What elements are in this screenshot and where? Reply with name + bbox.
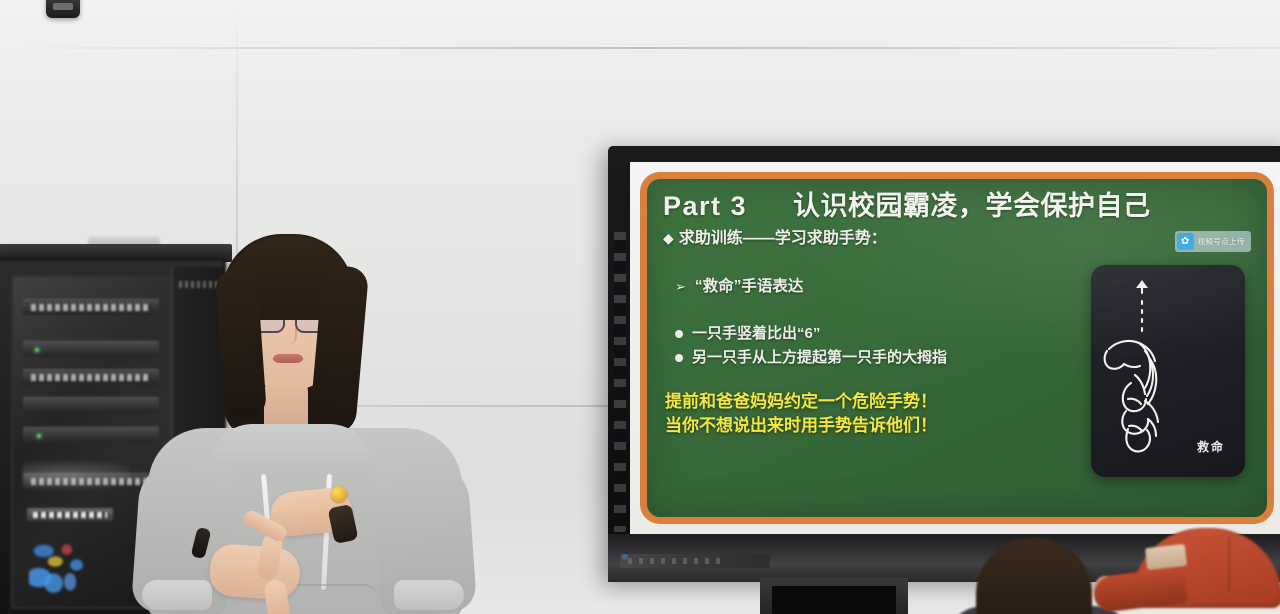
smart-tv[interactable]: Part 3认识校园霸凌，学会保护自己 ◆ 求助训练——学习求助手势： ➢ “救… — [608, 146, 1280, 582]
list-item: 另一只手从上方提起第一只手的大拇指 — [675, 348, 1005, 368]
hand-lower — [208, 543, 301, 601]
rack-ports — [31, 304, 151, 311]
diamond-bullet-icon: ◆ — [663, 231, 674, 245]
rack-network-cables — [29, 523, 111, 593]
rack-patch-panel — [27, 508, 113, 521]
tv-power-indicator — [622, 554, 628, 560]
arrow-bullet-icon: ➢ — [675, 279, 686, 295]
lead-bullet-text: 求助训练——学习求助手势： — [679, 224, 887, 248]
wall-seam-upper — [0, 47, 1280, 49]
watermark: ✿ 视频号点上传 — [1175, 231, 1251, 252]
mouth — [273, 354, 303, 363]
rack-status-led — [37, 434, 41, 438]
slide-title: Part 3认识校园霸凌，学会保护自己 — [663, 191, 1223, 222]
sub-bullet-text: “救命”手语表达 — [695, 274, 804, 296]
step-text: 另一只手从上方提起第一只手的大拇指 — [692, 348, 947, 368]
step-text: 一只手竖着比出“6” — [692, 324, 820, 344]
warning-note: 提前和爸爸妈妈约定一个危险手势！ 当你不想说出来时用手势告诉他们！ — [665, 390, 1025, 438]
steps-list: 一只手竖着比出“6” 另一只手从上方提起第一只手的大拇指 — [675, 324, 1005, 368]
classroom-scene: Part 3认识校园霸凌，学会保护自己 ◆ 求助训练——学习求助手势： ➢ “救… — [0, 0, 1280, 614]
watermark-icon: ✿ — [1177, 233, 1194, 250]
head — [976, 538, 1092, 614]
audience-person-front — [962, 532, 1112, 614]
slide-title-main: 认识校园霸凌，学会保护自己 — [793, 191, 1151, 221]
cap-seam — [1228, 536, 1230, 590]
rack-ports — [31, 374, 151, 381]
tv-screen[interactable]: Part 3认识校园霸凌，学会保护自己 ◆ 求助训练——学习求助手势： ➢ “救… — [630, 162, 1280, 534]
cuff-left — [142, 580, 212, 610]
presenter — [138, 228, 468, 614]
note-line: 提前和爸爸妈妈约定一个危险手势！ — [665, 390, 1025, 414]
cuff-right — [394, 580, 464, 610]
rack-status-led — [35, 348, 39, 352]
lead-bullet-line: ◆ 求助训练——学习求助手势： — [663, 224, 1251, 248]
audience-person-cap — [1108, 524, 1280, 614]
presentation-slide: Part 3认识校园霸凌，学会保护自己 ◆ 求助训练——学习求助手势： ➢ “救… — [630, 162, 1280, 534]
tv-control-strip[interactable] — [620, 554, 770, 568]
dot-bullet-icon — [675, 330, 683, 338]
tv-stand-inner — [772, 586, 896, 614]
cap-logo — [1145, 544, 1187, 570]
rack-cable-sweep — [23, 455, 129, 495]
list-item: 一只手竖着比出“6” — [675, 324, 1005, 344]
ceiling-mount-device — [46, 0, 80, 18]
tv-side-control-icons[interactable] — [614, 232, 626, 532]
gesture-illustration-card: 救命 — [1091, 265, 1245, 477]
gesture-label: 救命 — [1197, 438, 1225, 455]
watermark-text: 视频号点上传 — [1198, 236, 1245, 247]
slide-title-part: Part 3 — [663, 191, 747, 221]
dot-bullet-icon — [675, 354, 683, 362]
tv-stand — [760, 578, 908, 614]
pin-badge — [331, 486, 347, 502]
note-line: 当你不想说出来时用手势告诉他们！ — [665, 414, 1025, 438]
chalkboard-panel: Part 3认识校园霸凌，学会保护自己 ◆ 求助训练——学习求助手势： ➢ “救… — [640, 172, 1274, 524]
